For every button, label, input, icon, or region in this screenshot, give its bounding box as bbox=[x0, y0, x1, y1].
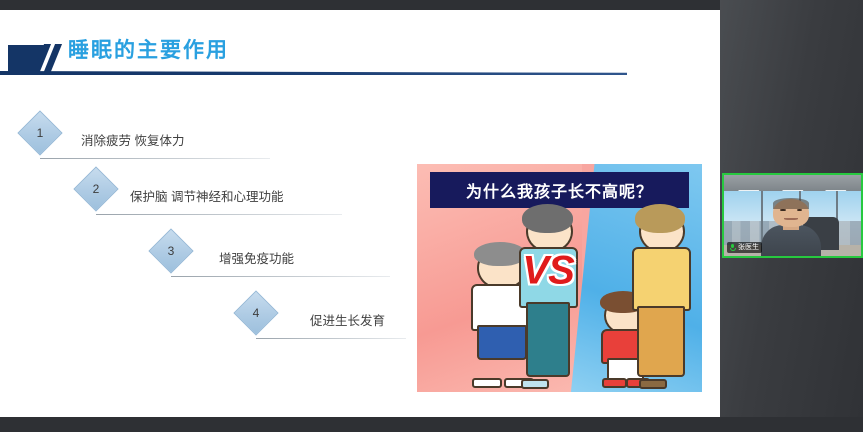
item-underline bbox=[171, 276, 390, 277]
figure-hair bbox=[635, 204, 686, 232]
item-label: 消除疲劳 恢复体力 bbox=[81, 130, 184, 149]
figure-shoe-left bbox=[639, 379, 668, 389]
participant-video-tile[interactable]: 张医生 bbox=[722, 173, 863, 258]
participant-hair bbox=[773, 198, 809, 209]
item-underline bbox=[96, 214, 342, 215]
item-number: 3 bbox=[148, 228, 194, 274]
illustration-figure-mother-right bbox=[628, 210, 696, 388]
figure-hair bbox=[522, 204, 573, 232]
participant-name-chip: 张医生 bbox=[727, 242, 762, 253]
item-label: 促进生长发育 bbox=[310, 310, 385, 329]
presentation-slide: 睡眠的主要作用 1 消除疲劳 恢复体力 2 保护脑 调节神经和心理功能 3 增强… bbox=[0, 10, 720, 417]
item-number: 2 bbox=[73, 166, 119, 212]
figure-torso bbox=[632, 247, 691, 311]
item-number: 1 bbox=[17, 110, 63, 156]
microphone-icon bbox=[729, 244, 736, 252]
figure-shoe-left bbox=[521, 379, 550, 389]
video-ceiling bbox=[724, 175, 861, 191]
item-label: 保护脑 调节神经和心理功能 bbox=[130, 186, 283, 205]
screen-share-window: 睡眠的主要作用 1 消除疲劳 恢复体力 2 保护脑 调节神经和心理功能 3 增强… bbox=[0, 0, 863, 432]
item-label: 增强免疫功能 bbox=[219, 248, 294, 267]
participant-body bbox=[761, 225, 821, 257]
participant-name: 张医生 bbox=[738, 243, 759, 252]
item-underline bbox=[256, 338, 406, 339]
illustration-banner: 为什么我孩子长不高呢？ bbox=[430, 172, 689, 208]
figure-shoe-left bbox=[472, 378, 502, 388]
title-underline bbox=[0, 71, 627, 75]
illustration-figure-mother-left bbox=[514, 210, 582, 388]
slide-illustration: 为什么我孩子长不高呢？ bbox=[417, 164, 702, 392]
meeting-bottom-bar bbox=[0, 417, 863, 432]
versus-label: VS bbox=[522, 249, 573, 294]
illustration-banner-text: 为什么我孩子长不高呢？ bbox=[466, 178, 653, 202]
participants-sidebar: 张医生 bbox=[720, 0, 863, 432]
item-number: 4 bbox=[233, 290, 279, 336]
item-underline bbox=[40, 158, 270, 159]
figure-legs bbox=[526, 302, 570, 377]
figure-shoe-left bbox=[602, 378, 626, 388]
title-decoration-icon bbox=[8, 45, 60, 73]
slide-title: 睡眠的主要作用 bbox=[68, 34, 229, 64]
figure-legs bbox=[637, 306, 685, 378]
